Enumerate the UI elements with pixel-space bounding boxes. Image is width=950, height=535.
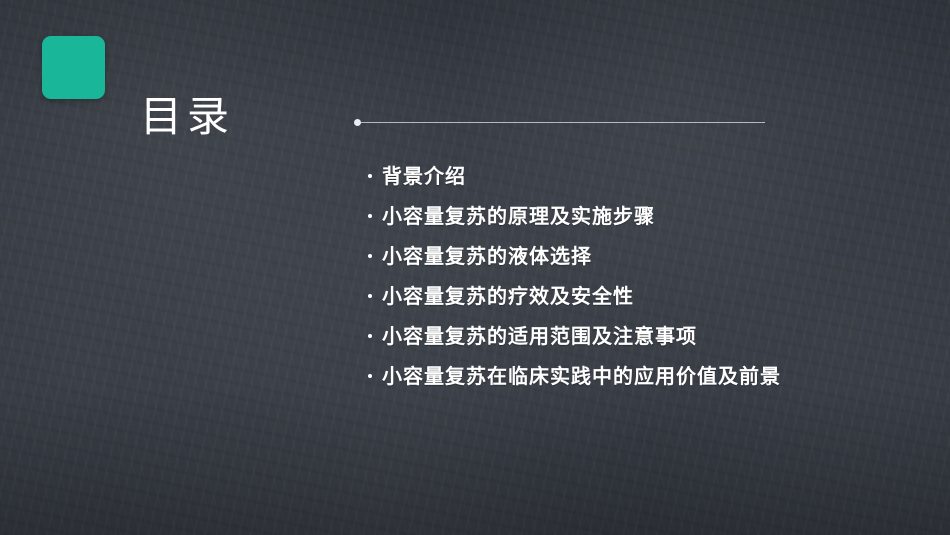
bullet-dot-icon (368, 374, 372, 378)
list-item-label: 小容量复苏在临床实践中的应用价值及前景 (382, 363, 781, 389)
list-item-label: 小容量复苏的原理及实施步骤 (382, 203, 655, 229)
list-item[interactable]: 背景介绍 (368, 163, 908, 189)
title-divider (361, 122, 765, 123)
bullet-dot-icon (368, 294, 372, 298)
list-item[interactable]: 小容量复苏的原理及实施步骤 (368, 203, 908, 229)
list-item-label: 小容量复苏的液体选择 (382, 243, 592, 269)
list-item-label: 小容量复苏的适用范围及注意事项 (382, 323, 697, 349)
bullet-dot-icon (368, 174, 372, 178)
logo-square-icon (42, 36, 105, 99)
table-of-contents: 背景介绍 小容量复苏的原理及实施步骤 小容量复苏的液体选择 小容量复苏的疗效及安… (368, 163, 908, 403)
list-item[interactable]: 小容量复苏的疗效及安全性 (368, 283, 908, 309)
page-title: 目录 (140, 96, 234, 138)
list-item-label: 背景介绍 (382, 163, 466, 189)
list-item[interactable]: 小容量复苏的液体选择 (368, 243, 908, 269)
list-item[interactable]: 小容量复苏的适用范围及注意事项 (368, 323, 908, 349)
bullet-dot-icon (368, 334, 372, 338)
bullet-dot-icon (368, 254, 372, 258)
slide-canvas: 目录 背景介绍 小容量复苏的原理及实施步骤 小容量复苏的液体选择 小容量复苏的疗… (0, 0, 950, 535)
list-item-label: 小容量复苏的疗效及安全性 (382, 283, 634, 309)
list-item[interactable]: 小容量复苏在临床实践中的应用价值及前景 (368, 363, 908, 389)
bullet-dot-icon (368, 214, 372, 218)
rule-dot-icon (354, 119, 361, 126)
